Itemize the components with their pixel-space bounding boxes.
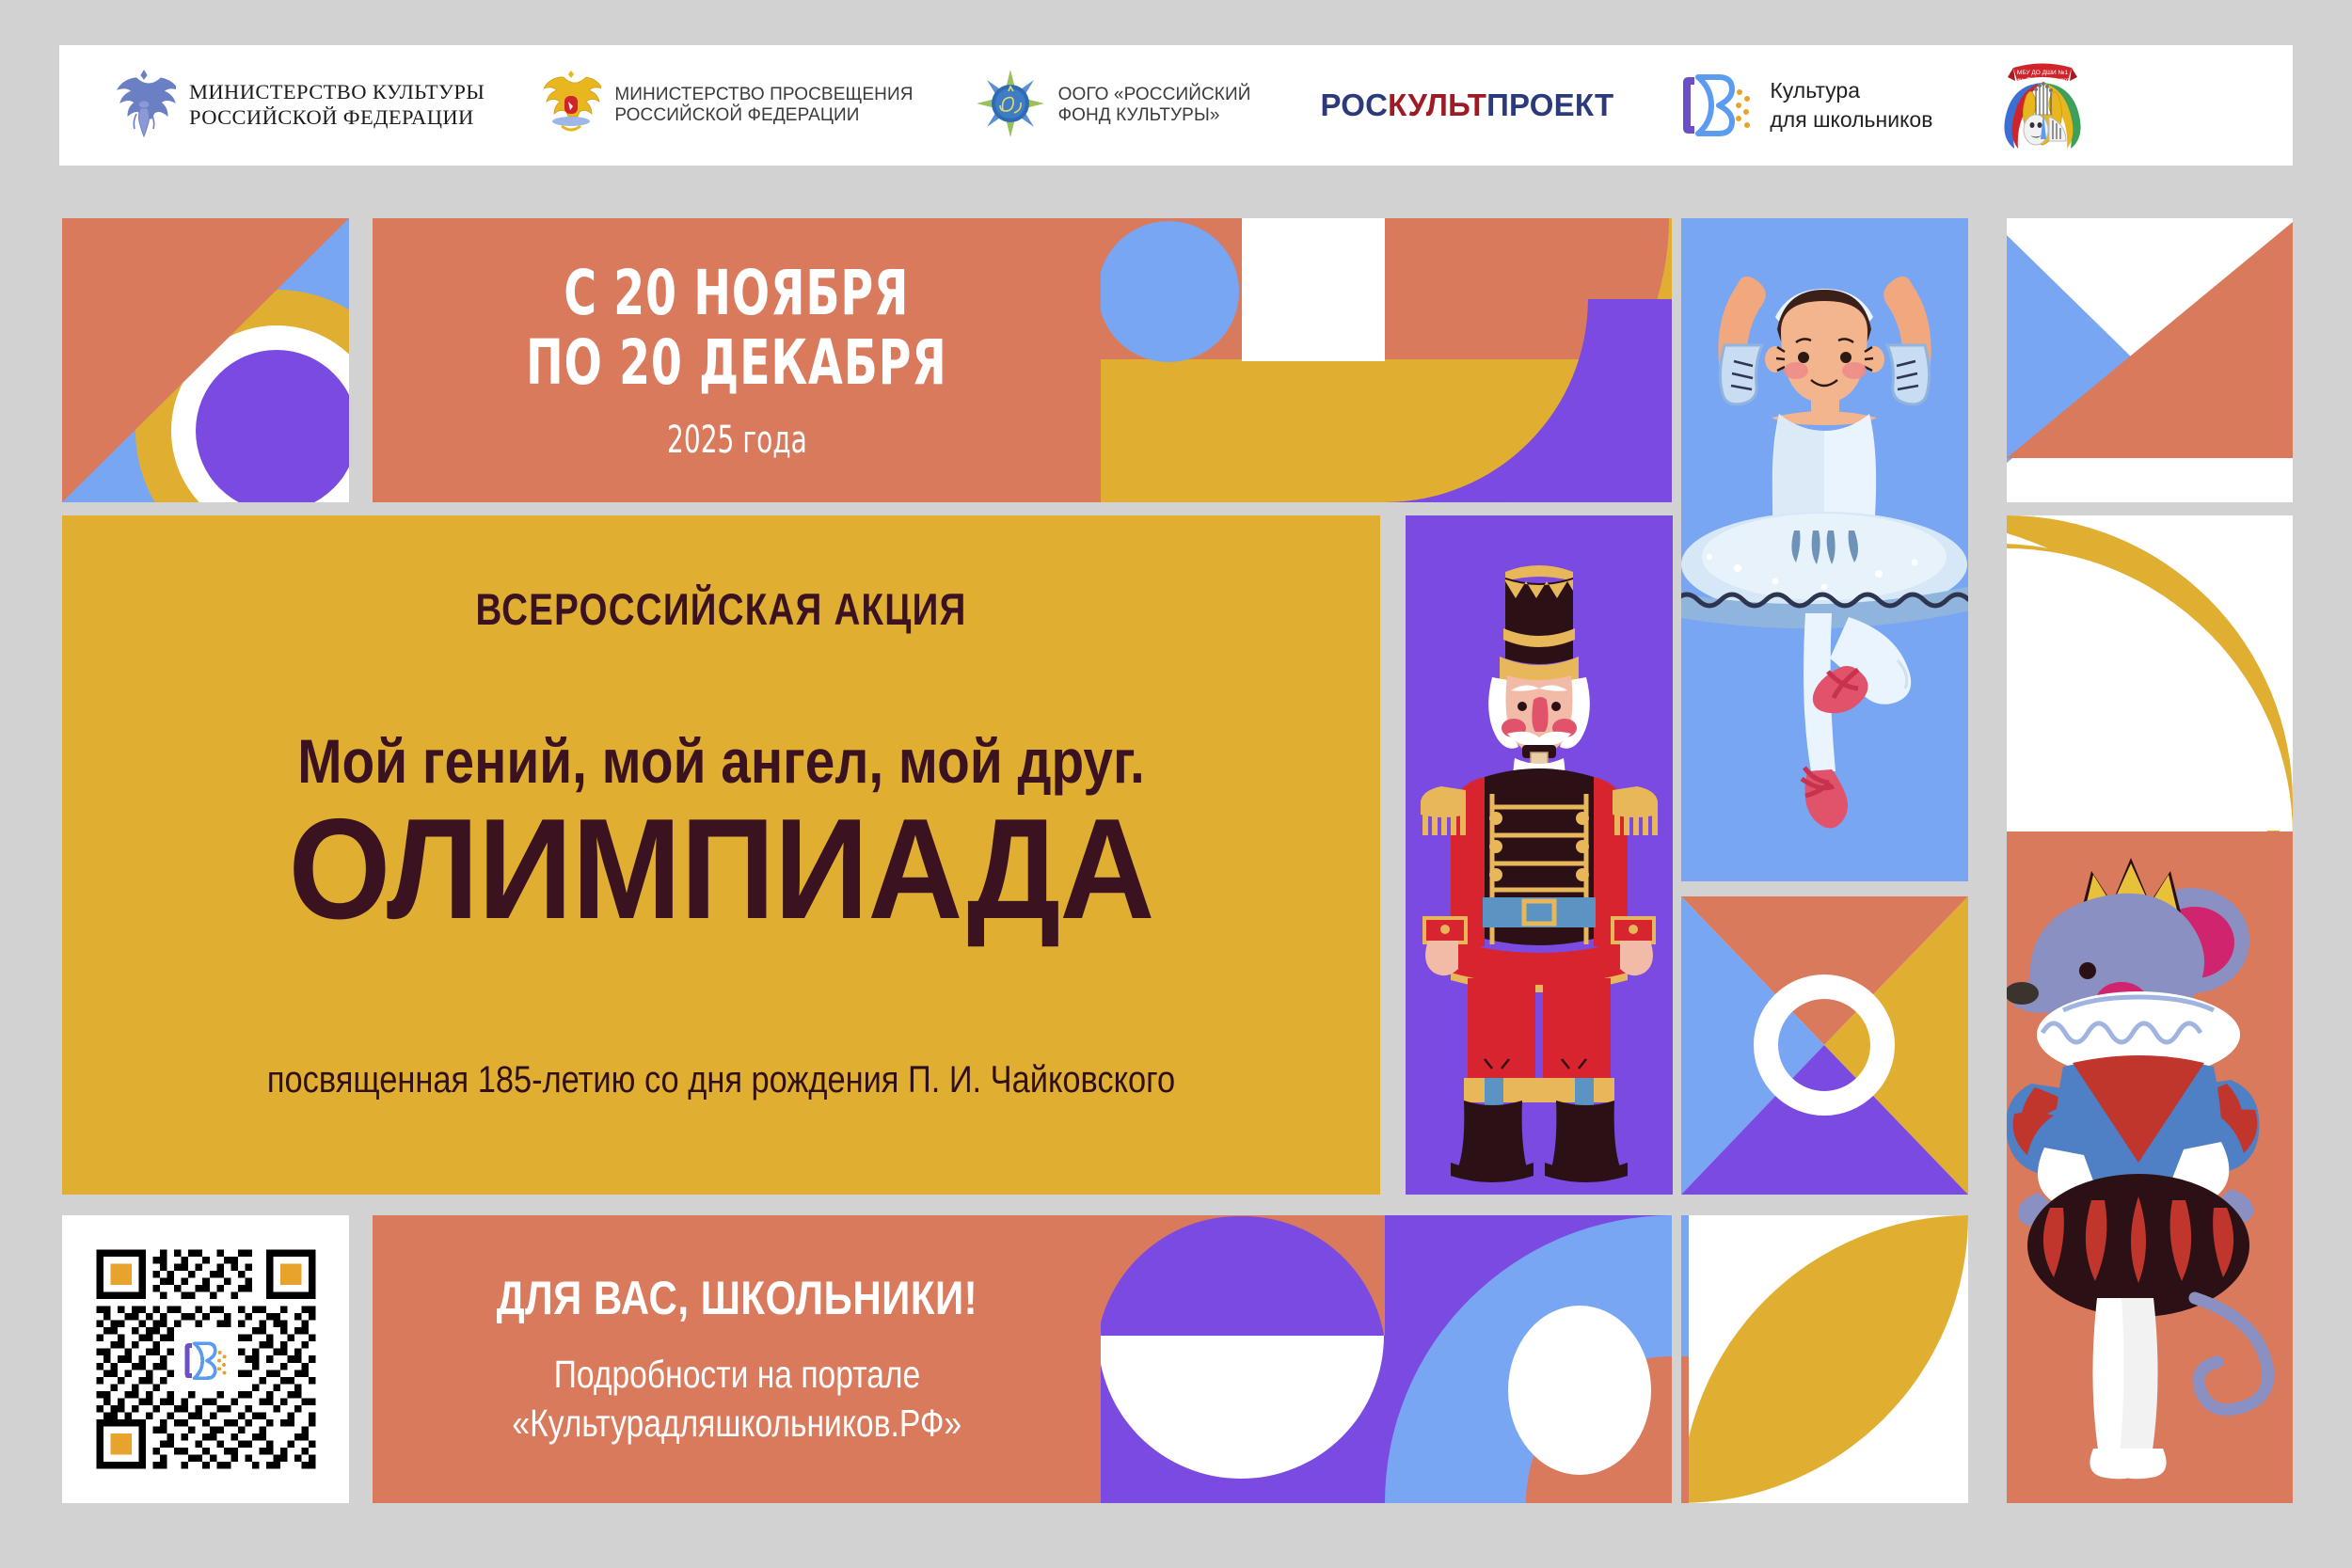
svg-text:им. П. Чайковского: им. П. Чайковского [2016, 76, 2070, 84]
school-block-title: ДЛЯ ВАС, ШКОЛЬНИКИ! [496, 1271, 977, 1325]
main-announcement-block: ВСЕРОССИЙСКАЯ АКЦИЯ Мой гений, мой ангел… [62, 515, 1380, 1195]
illustration-mouse-king [2007, 832, 2293, 1503]
illustration-ballerina [1681, 218, 1968, 881]
school-info-block: ДЛЯ ВАС, ШКОЛЬНИКИ! Подробности на порта… [373, 1215, 1101, 1503]
subtitle-quote: Мой гений, мой ангел, мой друг. [154, 725, 1288, 797]
qr-code[interactable] [89, 1243, 323, 1476]
tile-bottom-leaf [1681, 1215, 1968, 1503]
tile-tl-diagonal-rings [62, 218, 349, 502]
logo-ministry-of-culture: МИНИСТЕРСТВО КУЛЬТУРЫ РОССИЙСКОЙ ФЕДЕРАЦ… [112, 67, 485, 145]
logo-ministry-of-education: МИНИСТЕРСТВО ПРОСВЕЩЕНИЯ РОССИЙСКОЙ ФЕДЕ… [541, 68, 913, 144]
date-block: С 20 НОЯБРЯ ПО 20 ДЕКАБРЯ 2025 года [373, 218, 1101, 502]
school-block-line2: «Культурадляшкольников.РФ» [512, 1399, 961, 1448]
logo-culture-for-schoolchildren-text: Культура для школьников [1770, 76, 1932, 135]
page-title: ОЛИМПИАДА [115, 798, 1327, 941]
logo-russian-culture-fund: ООГО «РОССИЙСКИЙ ФОНД КУЛЬТУРЫ» [976, 69, 1251, 143]
tile-bottom-right-strip [1681, 1215, 1689, 1503]
logo-russian-culture-fund-text: ООГО «РОССИЙСКИЙ ФОНД КУЛЬТУРЫ» [1058, 85, 1251, 127]
tile-mid-four-triangles [1681, 896, 1968, 1195]
svg-text:МБУ ДО ДШИ №1: МБУ ДО ДШИ №1 [2017, 70, 2069, 76]
lyre-masks-school-emblem-icon: МБУ ДО ДШИ №1 им. П. Чайковского [1994, 55, 2090, 157]
logo-roskultproekt: РОСКУЛЬТПРОЕКТ [1320, 87, 1613, 123]
date-range: С 20 НОЯБРЯ ПО 20 ДЕКАБРЯ [526, 259, 947, 398]
illustration-nutcracker-soldier [1406, 515, 1673, 1195]
poster: МИНИСТЕРСТВО КУЛЬТУРЫ РОССИЙСКОЙ ФЕДЕРАЦ… [0, 0, 2352, 1568]
logo-culture-for-schoolchildren: Культура для школьников [1679, 70, 1932, 141]
double-headed-eagle-emblem-icon [541, 68, 601, 144]
kicker-text: ВСЕРОССИЙСКАЯ АКЦИЯ [181, 583, 1262, 635]
dedication-text: посвященная 185-летию со дня рождения П.… [154, 1059, 1288, 1101]
tile-bottom-mosaic [1098, 1215, 1672, 1503]
school-block-line1: Подробности на портале [553, 1350, 919, 1399]
date-year: 2025 года [667, 419, 807, 462]
logo-bar: МИНИСТЕРСТВО КУЛЬТУРЫ РОССИЙСКОЙ ФЕДЕРАЦ… [59, 45, 2293, 166]
roskultproekt-wordmark: РОСКУЛЬТПРОЕКТ [1320, 87, 1613, 123]
logo-ministry-of-culture-text: МИНИСТЕРСТВО КУЛЬТУРЫ РОССИЙСКОЙ ФЕДЕРАЦ… [189, 80, 485, 130]
starburst-medal-emblem-icon [976, 69, 1045, 143]
tile-top-mosaic [1098, 218, 1672, 502]
double-headed-eagle-lyre-emblem-icon [112, 67, 176, 145]
tile-tr-triangles [2007, 218, 2293, 502]
logo-tchaikovsky-art-school: МБУ ДО ДШИ №1 им. П. Чайковского [1994, 55, 2090, 157]
qr-code-container[interactable] [62, 1215, 349, 1503]
logo-ministry-of-education-text: МИНИСТЕРСТВО ПРОСВЕЩЕНИЯ РОССИЙСКОЙ ФЕДЕ… [614, 85, 913, 127]
kfsh-bracket-logo-icon [1679, 70, 1756, 141]
